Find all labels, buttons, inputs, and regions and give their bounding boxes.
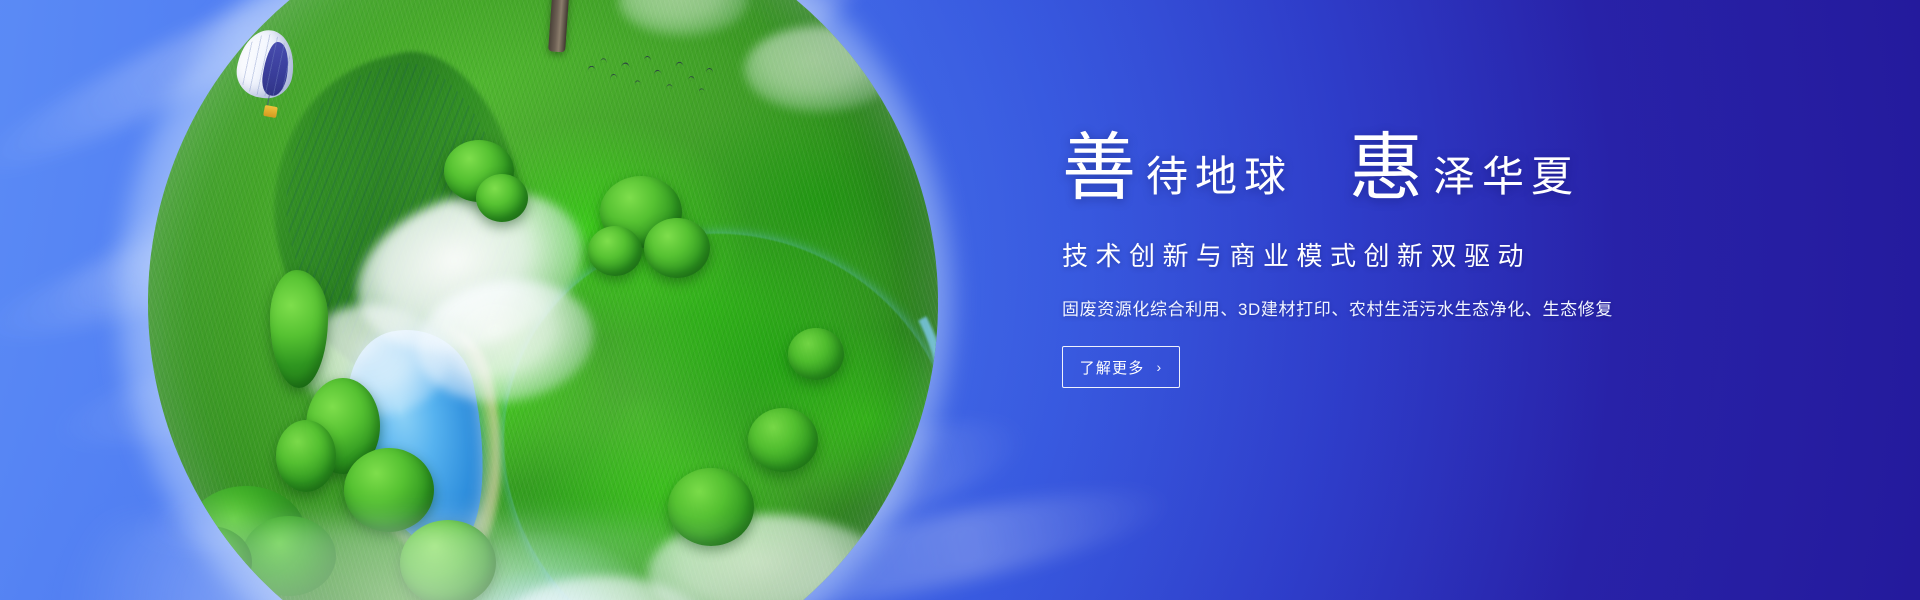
tree-cluster	[444, 140, 514, 202]
tree-cluster	[788, 328, 844, 380]
chevron-right-icon: ›	[1156, 360, 1162, 374]
tree-cluster	[600, 176, 682, 248]
cloud-puff	[408, 268, 601, 414]
banner-description: 固废资源化综合利用、3D建材打印、农村生活污水生态净化、生态修复	[1062, 295, 1762, 320]
tree-cluster	[644, 218, 710, 278]
hot-air-balloon-icon	[238, 30, 300, 130]
tree-cluster	[588, 226, 642, 276]
tree-cluster	[276, 420, 336, 492]
headline-part1-large: 善	[1062, 132, 1136, 206]
page-title: 善 待地球 惠 泽华夏	[1062, 132, 1762, 206]
learn-more-button[interactable]: 了解更多 ›	[1062, 346, 1180, 388]
cloud-puff	[298, 304, 448, 416]
tree-trunk	[548, 0, 573, 52]
banner-content: 善 待地球 惠 泽华夏 技术创新与商业模式创新双驱动 固废资源化综合利用、3D建…	[1062, 132, 1762, 388]
learn-more-label: 了解更多	[1080, 357, 1145, 378]
cloud-puff	[337, 164, 604, 378]
banner-subtitle: 技术创新与商业模式创新双驱动	[1062, 236, 1762, 273]
headline-part2-small: 泽华夏	[1433, 157, 1580, 199]
globe-bottom-glow	[60, 520, 760, 600]
tree-cluster	[476, 174, 528, 222]
bird-flock-icon	[586, 54, 716, 98]
tree-cluster	[306, 378, 380, 474]
tree-cluster	[270, 270, 328, 388]
tree-cluster	[748, 408, 818, 472]
hero-banner: 善 待地球 惠 泽华夏 技术创新与商业模式创新双驱动 固废资源化综合利用、3D建…	[0, 0, 1920, 600]
headline-part1-small: 待地球	[1146, 157, 1293, 199]
cloud-puff	[744, 26, 894, 112]
headline-part2-large: 惠	[1349, 132, 1423, 206]
